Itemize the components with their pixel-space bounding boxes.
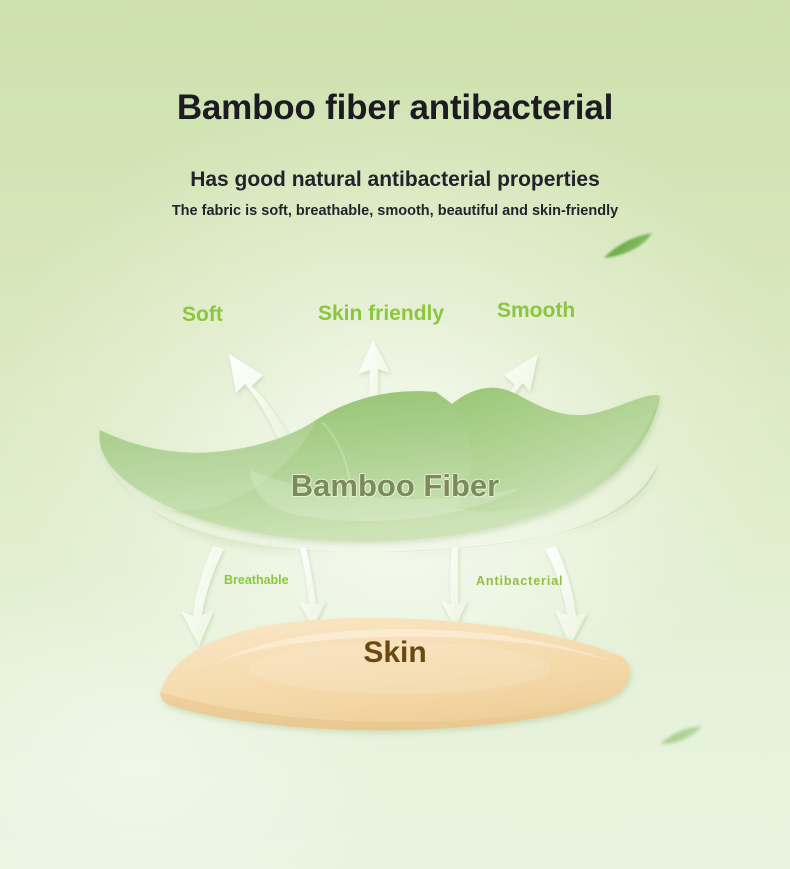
page-tagline: The fabric is soft, breathable, smooth, … [0,203,790,219]
arrow-up-skin-friendly [358,340,390,441]
flow-label-antibacterial: Antibacterial [476,574,563,588]
page-subtitle: Has good natural antibacterial propertie… [0,168,790,192]
illustration-artwork [0,0,790,869]
feature-label-skin-friendly: Skin friendly [318,302,444,326]
background-glow-center [120,300,680,740]
arrow-down-outer-left [181,546,224,646]
arrow-up-soft [229,354,292,442]
feature-label-soft: Soft [182,303,223,327]
leaf-icon-top-right [604,233,652,258]
leaf-icon-bottom-right [660,726,702,744]
skin-label: Skin [0,636,790,670]
skin-layer [160,618,630,730]
arrow-down-center-right [441,547,468,628]
arrow-down-antibacterial [545,546,588,646]
flow-label-breathable: Breathable [224,573,289,587]
page-title: Bamboo fiber antibacterial [0,88,790,128]
arrow-down-breathable [299,548,326,628]
arrow-up-smooth [481,354,538,442]
bamboo-fiber-label: Bamboo Fiber [0,468,790,504]
feature-label-smooth: Smooth [497,299,575,323]
poster-canvas: Bamboo fiber antibacterial Has good natu… [0,0,790,869]
background-glow-lower-left [0,560,400,869]
